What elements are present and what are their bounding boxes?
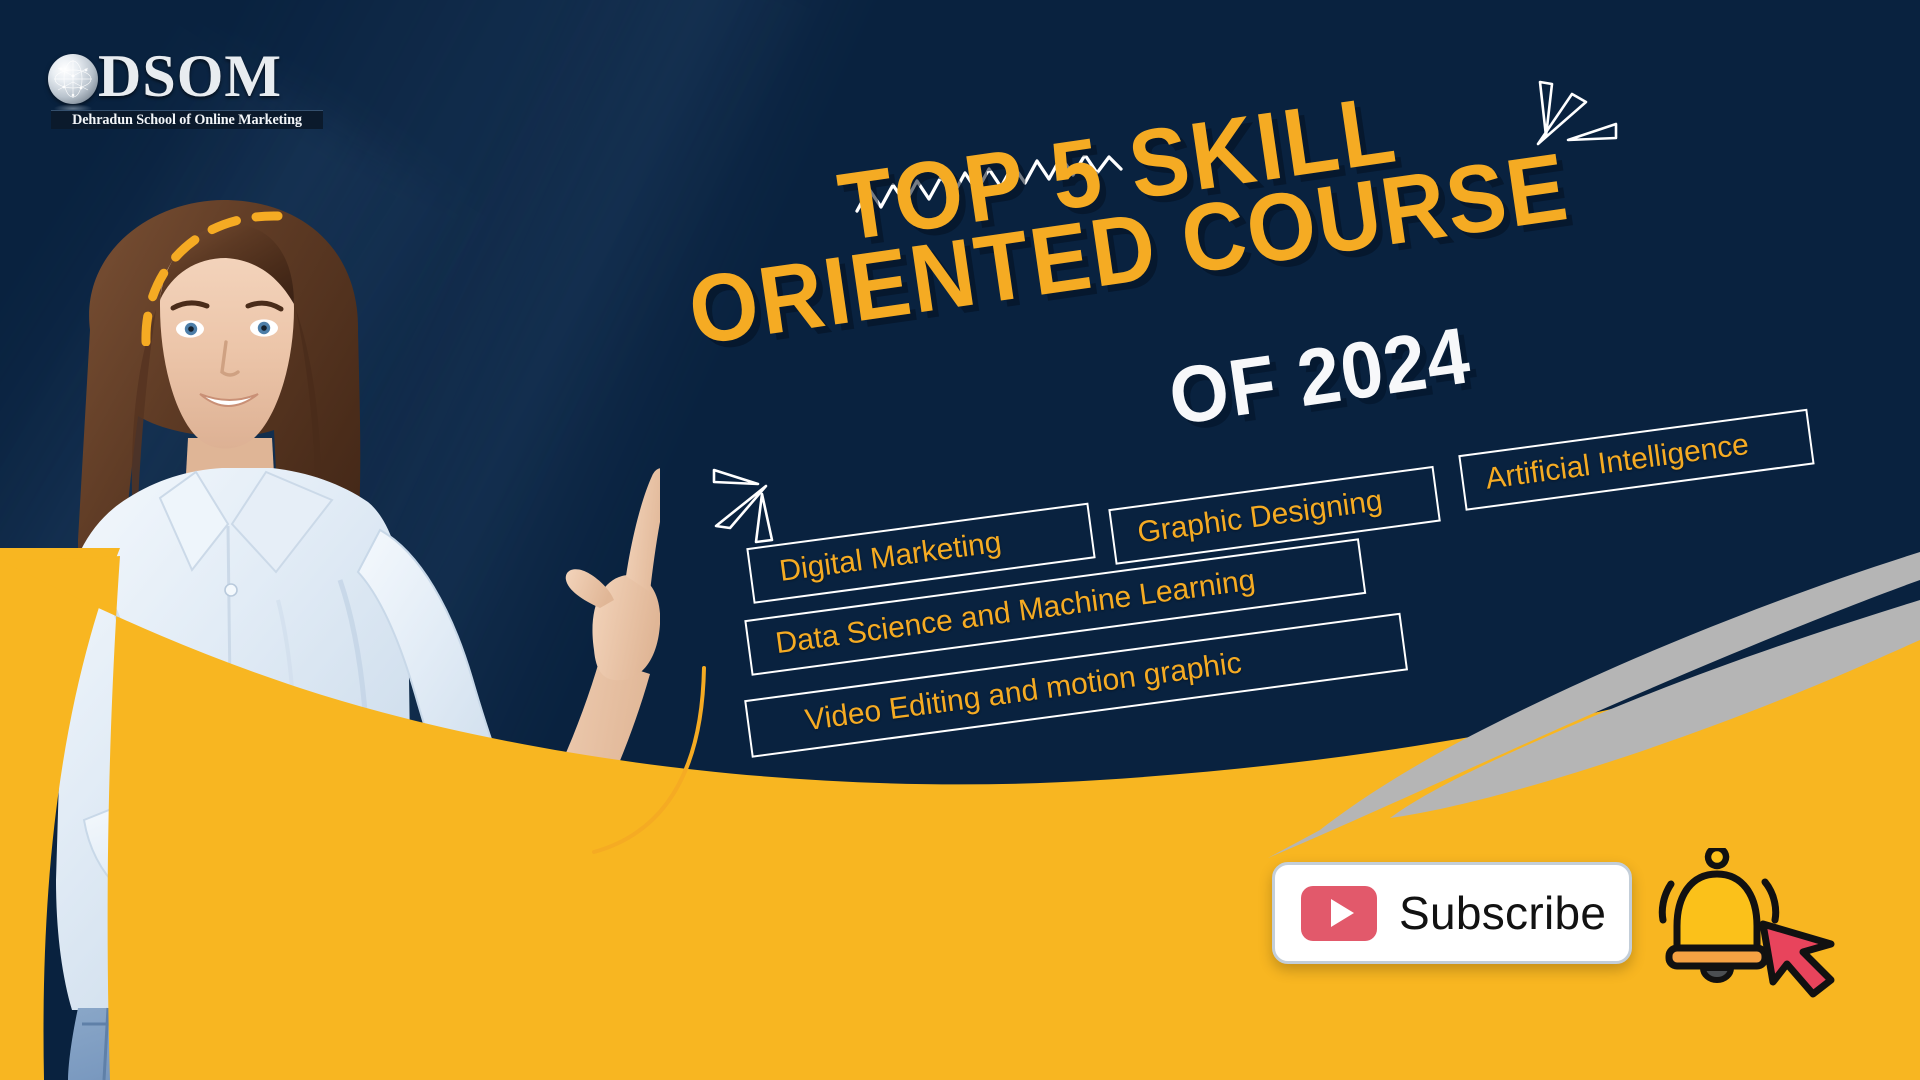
subscribe-label: Subscribe: [1399, 886, 1606, 940]
subscribe-button[interactable]: Subscribe: [1272, 862, 1632, 964]
course-label-text: Video Editing and motion graphic: [803, 646, 1243, 738]
notification-bell-icon[interactable]: [1645, 848, 1865, 998]
bell-top-knob: [1708, 848, 1726, 866]
course-label-text: Artificial Intelligence: [1484, 428, 1751, 497]
mouse-cursor-icon[interactable]: [1763, 924, 1831, 994]
course-list: Digital Marketing Graphic Designing Arti…: [0, 0, 1920, 1080]
bell-body: [1677, 874, 1757, 948]
course-label-text: Digital Marketing: [777, 526, 1003, 589]
banner-canvas: DSOM Dehradun School of Online Marketing…: [0, 0, 1920, 1080]
bell-clapper: [1703, 968, 1731, 980]
youtube-play-icon: [1301, 886, 1377, 941]
bell-band: [1669, 948, 1765, 966]
course-label-artificial-intelligence[interactable]: Artificial Intelligence: [1458, 409, 1814, 511]
